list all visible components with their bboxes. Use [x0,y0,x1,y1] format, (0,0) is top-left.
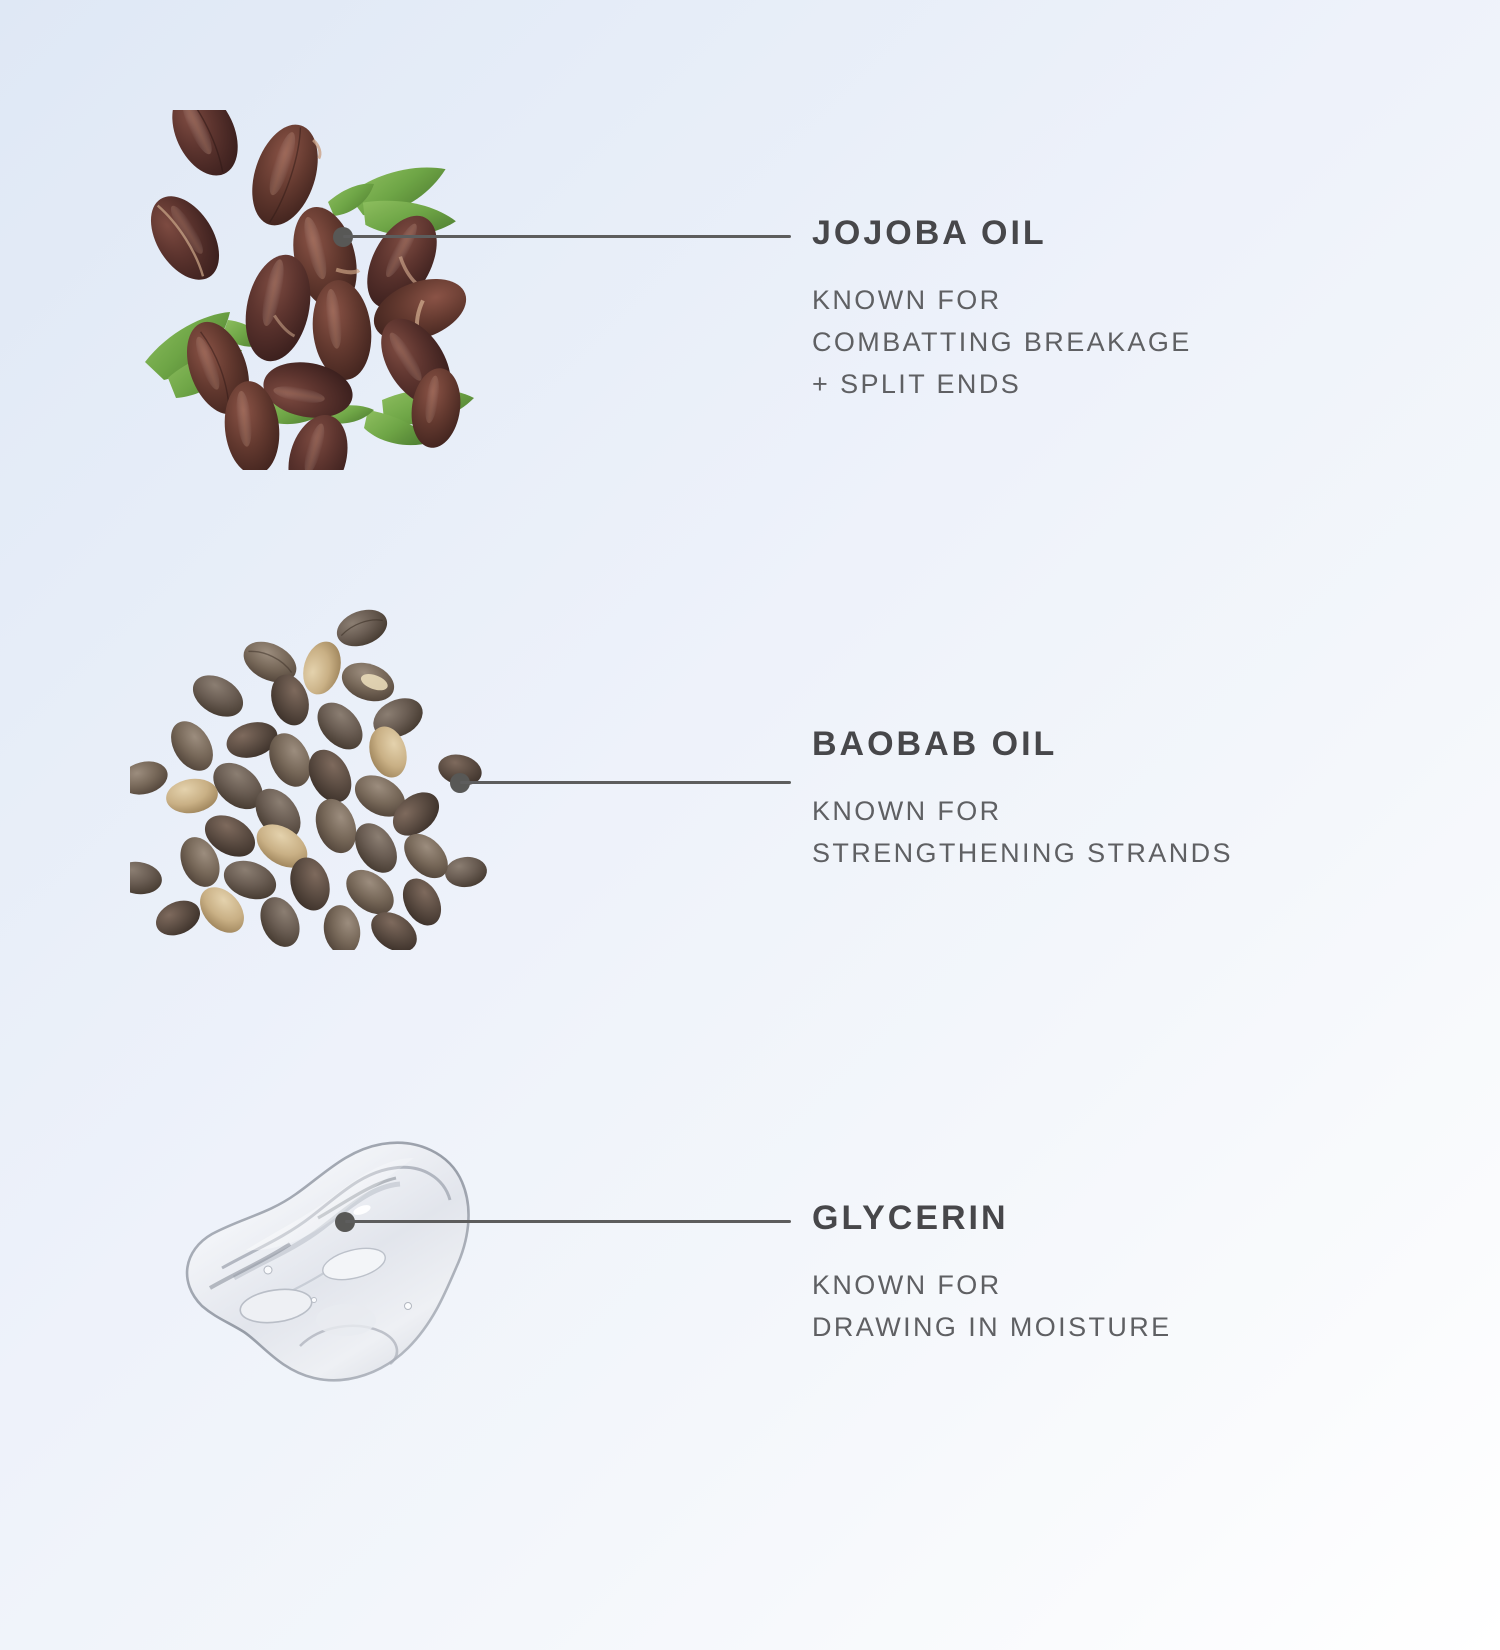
ingredient-title-baobab: BAOBAB OIL [812,726,1233,763]
jojoba-text-block: JOJOBA OIL KNOWN FOR COMBATTING BREAKAGE… [812,215,1192,406]
ingredient-description-glycerin: KNOWN FOR DRAWING IN MOISTURE [812,1265,1172,1349]
glycerin-gel-swatch [150,1110,510,1400]
ingredient-description-baobab: KNOWN FOR STRENGTHENING STRANDS [812,791,1233,875]
ingredient-title-jojoba: JOJOBA OIL [812,215,1192,252]
baobab-text-block: BAOBAB OIL KNOWN FOR STRENGTHENING STRAN… [812,726,1233,875]
description-line: COMBATTING BREAKAGE [812,322,1192,364]
baobab-leader-line [460,781,791,784]
description-line: DRAWING IN MOISTURE [812,1307,1172,1349]
infographic-canvas: JOJOBA OIL KNOWN FOR COMBATTING BREAKAGE… [0,0,1500,1650]
jojoba-leader-line [343,235,791,238]
glycerin-text-block: GLYCERIN KNOWN FOR DRAWING IN MOISTURE [812,1200,1172,1349]
ingredient-description-jojoba: KNOWN FOR COMBATTING BREAKAGE + SPLIT EN… [812,280,1192,406]
description-line: KNOWN FOR [812,791,1233,833]
description-line: KNOWN FOR [812,280,1192,322]
baobab-seeds-pile [130,600,490,950]
description-line: KNOWN FOR [812,1265,1172,1307]
ingredient-title-glycerin: GLYCERIN [812,1200,1172,1237]
description-line: STRENGTHENING STRANDS [812,833,1233,875]
glycerin-leader-line [345,1220,791,1223]
jojoba-seeds-with-leaves [130,110,480,470]
description-line: + SPLIT ENDS [812,364,1192,406]
